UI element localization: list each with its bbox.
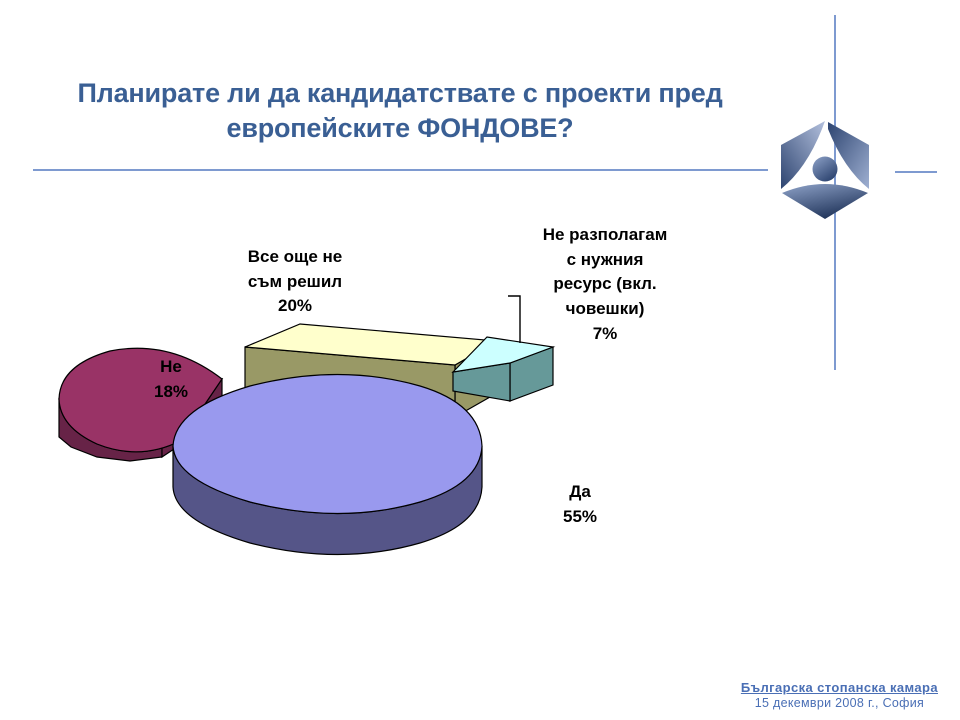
footer-date-place: 15 декември 2008 г., София [741, 696, 938, 710]
footer-organization-link[interactable]: Българска стопанска камара [741, 680, 938, 695]
decorative-horizontal-line [895, 171, 937, 173]
pie-slice-da [173, 375, 482, 555]
pie-label-vse-oshte-ne-sum-reshil: Все още не съм решил 20% [205, 245, 385, 319]
slide-footer: Българска стопанска камара 15 декември 2… [741, 680, 938, 710]
title-divider [33, 169, 768, 171]
pie-chart: Не разполагам с нужния ресурс (вкл. чове… [0, 195, 760, 575]
pie-label-da: Да 55% [520, 480, 640, 529]
organization-logo-icon [772, 117, 878, 223]
pie-label-ne: Не 18% [128, 355, 214, 404]
pie-label-ne-razpolagam: Не разполагам с нужния ресурс (вкл. чове… [510, 223, 700, 346]
page-title: Планирате ли да кандидатствате с проекти… [40, 76, 760, 145]
presentation-slide: Планирате ли да кандидатствате с проекти… [0, 0, 960, 720]
